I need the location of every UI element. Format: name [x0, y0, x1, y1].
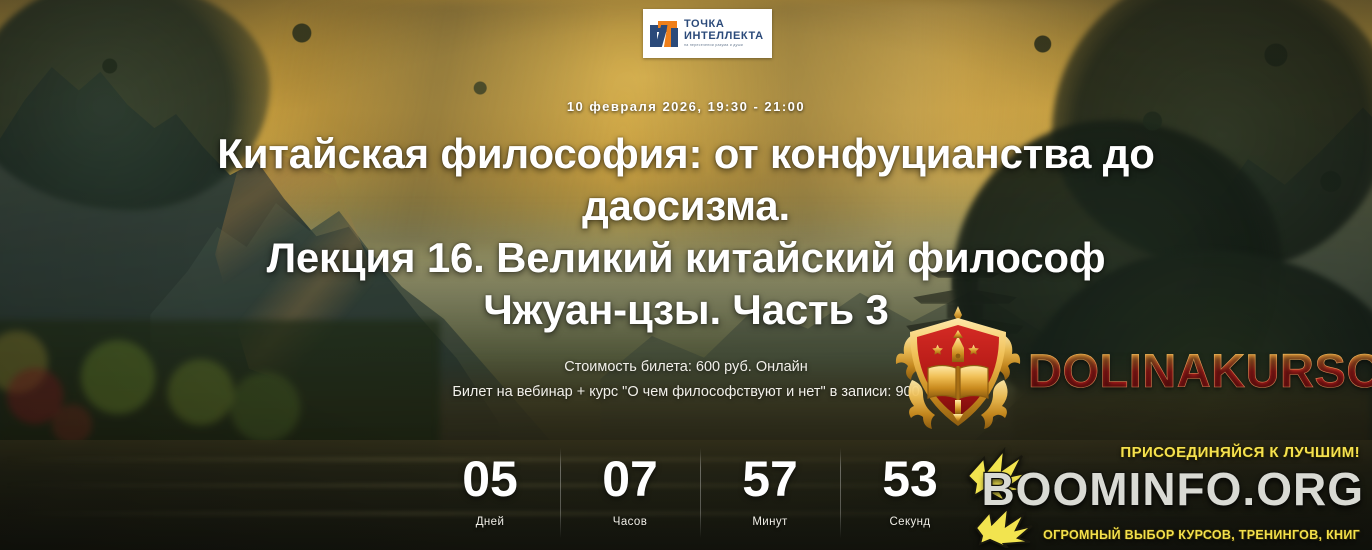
event-title-line-2: даосизма. — [170, 180, 1202, 232]
countdown-hours-label: Часов — [560, 516, 700, 528]
countdown-seconds-label: Секунд — [840, 516, 980, 528]
brand-name-line2: ИНТЕЛЛЕКТА — [684, 31, 764, 42]
watermark-boominfo: ПРИСОЕДИНЯЙСЯ К ЛУЧШИМ! BOOMINFO.ORG ОГР… — [966, 440, 1366, 546]
ticket-price-bundle: Билет на вебинар + курс "О чем философст… — [0, 380, 1372, 405]
countdown-unit-days: 05 Дней — [420, 448, 560, 528]
countdown-unit-seconds: 53 Секунд — [840, 448, 980, 528]
watermark-boominfo-tagline-top: ПРИСОЕДИНЯЙСЯ К ЛУЧШИМ! — [1120, 444, 1360, 461]
ticket-price-online: Стоимость билета: 600 руб. Онлайн — [0, 355, 1372, 380]
countdown-unit-hours: 07 Часов — [560, 448, 700, 528]
burst-icon-bottom — [970, 506, 1066, 548]
countdown-minutes-value: 57 — [700, 454, 840, 504]
watermark-boominfo-tagline-bottom: ОГРОМНЫЙ ВЫБОР КУРСОВ, ТРЕНИНГОВ, КНИГ — [1043, 528, 1360, 542]
brand-logo-text: ТОЧКА ИНТЕЛЛЕКТА на пересечении разума и… — [684, 19, 764, 48]
intellect-monogram-icon — [649, 19, 679, 49]
countdown-timer: 05 Дней 07 Часов 57 Минут 53 Секунд — [420, 448, 980, 544]
brand-tagline: на пересечении разума и души — [684, 44, 764, 48]
event-title-line-1: Китайская философия: от конфуцианства до — [170, 128, 1202, 180]
countdown-minutes-label: Минут — [700, 516, 840, 528]
watermark-boominfo-domain: BOOMINFO.ORG — [981, 462, 1364, 516]
countdown-days-value: 05 — [420, 454, 560, 504]
webinar-banner: ТОЧКА ИНТЕЛЛЕКТА на пересечении разума и… — [0, 0, 1372, 550]
countdown-hours-value: 07 — [560, 454, 700, 504]
event-title-line-3: Лекция 16. Великий китайский философ — [170, 232, 1202, 284]
event-title: Китайская философия: от конфуцианства до… — [170, 128, 1202, 336]
brand-name-line1: ТОЧКА — [684, 19, 764, 30]
ticket-price-block: Стоимость билета: 600 руб. Онлайн Билет … — [0, 355, 1372, 406]
banner-content: ТОЧКА ИНТЕЛЛЕКТА на пересечении разума и… — [0, 0, 1372, 550]
countdown-seconds-value: 53 — [840, 454, 980, 504]
brand-logo[interactable]: ТОЧКА ИНТЕЛЛЕКТА на пересечении разума и… — [643, 9, 772, 58]
event-title-line-4: Чжуан-цзы. Часть 3 — [170, 284, 1202, 336]
countdown-unit-minutes: 57 Минут — [700, 448, 840, 528]
event-datetime: 10 февраля 2026, 19:30 - 21:00 — [0, 99, 1372, 114]
countdown-days-label: Дней — [420, 516, 560, 528]
